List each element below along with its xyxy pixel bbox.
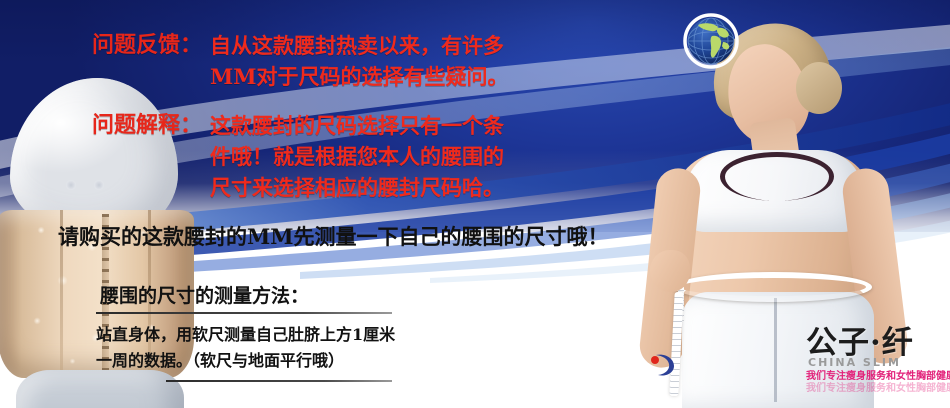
brand-name-cn: 公子·纤 xyxy=(806,326,948,360)
brand-name-en: CHINA SLIM xyxy=(808,356,946,369)
call-to-action-text: 请购买的这款腰封的MM先测量一下自己的腰围的尺寸哦！ xyxy=(58,222,638,252)
howto-divider-top xyxy=(96,312,392,314)
explanation-body: 这款腰封的尺码选择只有一个条 件哦！就是根据您本人的腰围的 尺寸来选择相应的腰封… xyxy=(210,110,504,203)
howto-title: 腰围的尺寸的测量方法： xyxy=(96,282,396,310)
brand-tagline-reflection: 我们专注瘦身服务和女性胸部健康 xyxy=(806,382,948,395)
feedback-label: 问题反馈： xyxy=(92,30,202,60)
howto-divider-bottom xyxy=(166,380,392,382)
feedback-line-2: MM对于尺码的选择有些疑问。 xyxy=(210,61,509,92)
feedback-text-block: 问题反馈： 自从这款腰封热卖以来，有许多 MM对于尺码的选择有些疑问。 xyxy=(92,30,572,92)
explanation-line-2: 件哦！就是根据您本人的腰围的 xyxy=(210,141,504,172)
model-hair-bun xyxy=(796,62,842,114)
howto-line-2: 一周的数据。（软尺与地面平行哦） xyxy=(96,348,396,374)
explanation-line-1: 这款腰封的尺码选择只有一个条 xyxy=(210,110,504,141)
howto-line-1: 站直身体，用软尺测量自己肚脐上方1厘米 xyxy=(96,322,396,348)
measuring-tape-around-waist xyxy=(674,272,872,302)
brand-logo: 公子·纤 CHINA SLIM 我们专注瘦身服务和女性胸部健康 我们专注瘦身服务… xyxy=(806,326,948,388)
explanation-line-3: 尺寸来选择相应的腰封尺码哈。 xyxy=(210,172,504,203)
explanation-text-block: 问题解释： 这款腰封的尺码选择只有一个条 件哦！就是根据您本人的腰围的 尺寸来选… xyxy=(92,110,572,203)
globe-icon xyxy=(682,12,740,70)
explanation-label: 问题解释： xyxy=(92,110,202,140)
crescent-dot-logo-icon xyxy=(646,352,680,378)
howto-measure-block: 腰围的尺寸的测量方法： 站直身体，用软尺测量自己肚脐上方1厘米 一周的数据。（软… xyxy=(96,282,396,382)
model-hand xyxy=(650,250,690,292)
promo-banner: 问题反馈： 自从这款腰封热卖以来，有许多 MM对于尺码的选择有些疑问。 问题解释… xyxy=(0,0,950,408)
model-sports-bra xyxy=(686,150,862,232)
feedback-line-1: 自从这款腰封热卖以来，有许多 xyxy=(210,30,509,61)
feedback-body: 自从这款腰封热卖以来，有许多 MM对于尺码的选择有些疑问。 xyxy=(210,30,509,92)
